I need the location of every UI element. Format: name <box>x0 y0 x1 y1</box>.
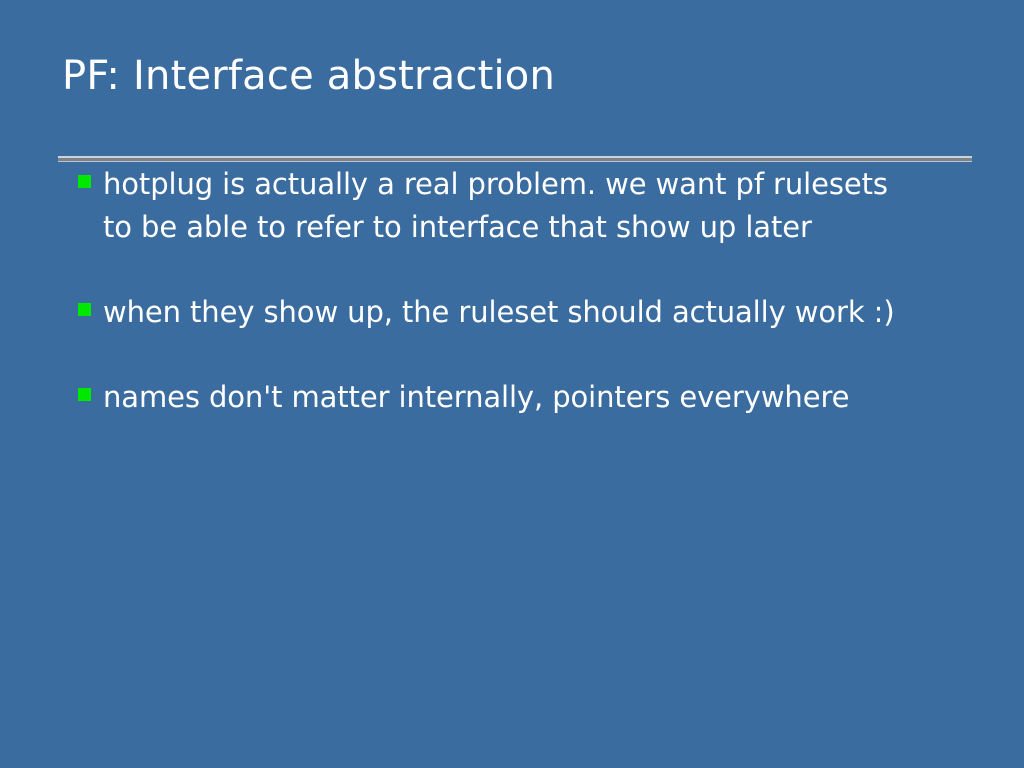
page-title: PF: Interface abstraction <box>58 52 978 100</box>
green-square-bullet-icon <box>78 175 91 188</box>
list-item-label: hotplug is actually a real problem. we w… <box>103 163 903 249</box>
green-square-bullet-icon <box>78 388 91 401</box>
bullet-list: hotplug is actually a real problem. we w… <box>78 163 958 419</box>
list-item-label: names don't matter internally, pointers … <box>103 376 958 419</box>
list-item: names don't matter internally, pointers … <box>78 376 958 419</box>
list-item-label: when they show up, the ruleset should ac… <box>103 291 958 334</box>
title-block: PF: Interface abstraction <box>58 52 978 100</box>
presentation-slide: PF: Interface abstraction hotplug is act… <box>0 0 1024 768</box>
rule-highlight-bottom <box>58 161 972 162</box>
title-underline-rule <box>58 156 972 162</box>
list-item: hotplug is actually a real problem. we w… <box>78 163 958 249</box>
green-square-bullet-icon <box>78 303 91 316</box>
list-item: when they show up, the ruleset should ac… <box>78 291 958 334</box>
